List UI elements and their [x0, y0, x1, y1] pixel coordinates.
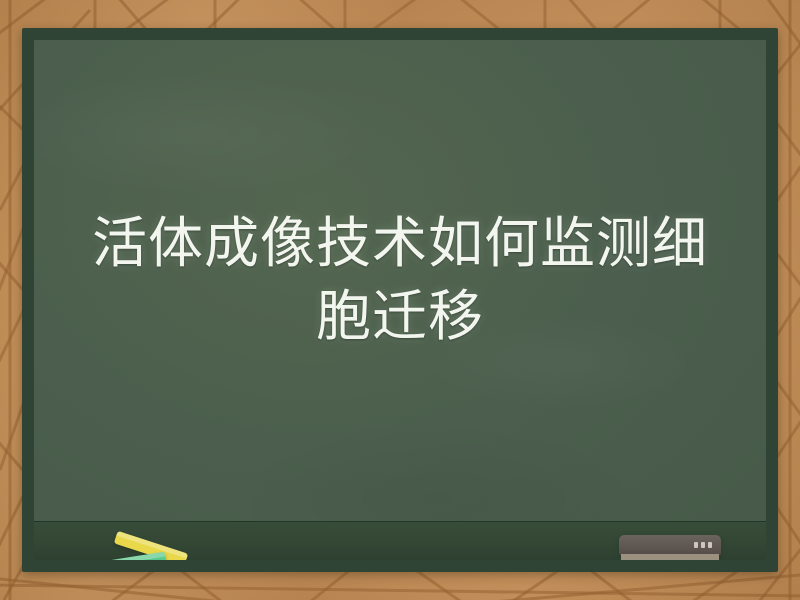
blackboard-surface: 活体成像技术如何监测细胞迁移: [34, 40, 766, 560]
eraser-dots-icon: [694, 542, 712, 548]
eraser-handle: [619, 535, 721, 555]
title-area: 活体成像技术如何监测细胞迁移: [34, 40, 766, 522]
board-title: 活体成像技术如何监测细胞迁移: [76, 208, 724, 353]
board-eraser[interactable]: [619, 535, 721, 560]
slide-canvas: 活体成像技术如何监测细胞迁移: [0, 0, 800, 600]
eraser-band: [621, 554, 719, 560]
blackboard-frame: 活体成像技术如何监测细胞迁移: [22, 28, 778, 572]
